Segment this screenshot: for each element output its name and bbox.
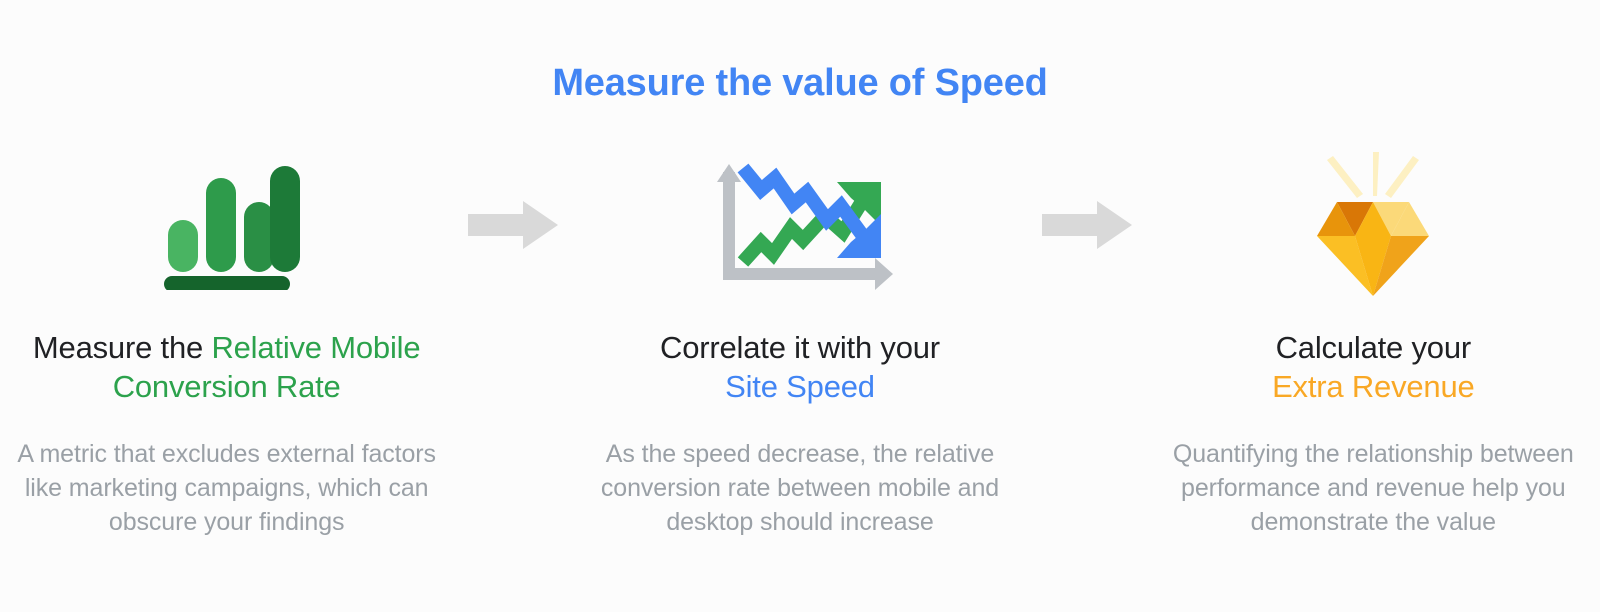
- headline-plain-part: Measure the: [33, 330, 212, 365]
- step-headline: Measure the Relative Mobile Conversion R…: [0, 328, 453, 406]
- step-body-text: A metric that excludes external factors …: [0, 438, 453, 539]
- headline-accent-part: Site Speed: [725, 369, 875, 404]
- arrow-right-icon: [1027, 150, 1147, 300]
- slide-canvas: Measure the value of Speed Measure the R…: [0, 0, 1600, 612]
- step-headline: Calculate yourExtra Revenue: [1272, 328, 1474, 406]
- step-headline: Correlate it with yourSite Speed: [660, 328, 940, 406]
- headline-plain-part: Calculate your: [1276, 330, 1471, 365]
- step-card-calculate: Calculate yourExtra Revenue Quantifying …: [1147, 150, 1600, 539]
- page-title: Measure the value of Speed: [0, 62, 1600, 105]
- diamond-gem-icon: [1293, 150, 1453, 300]
- headline-accent-part: Extra Revenue: [1272, 369, 1474, 404]
- arrow-right-icon: [453, 150, 573, 300]
- diverging-trend-chart-icon: [695, 150, 905, 300]
- step-card-measure: Measure the Relative Mobile Conversion R…: [0, 150, 453, 539]
- step-body-text: As the speed decrease, the relative conv…: [573, 438, 1026, 539]
- bar-chart-icon: [152, 150, 302, 300]
- step-body-text: Quantifying the relationship between per…: [1147, 438, 1600, 539]
- step-card-correlate: Correlate it with yourSite Speed As the …: [573, 150, 1026, 539]
- headline-plain-part: Correlate it with your: [660, 330, 940, 365]
- steps-row: Measure the Relative Mobile Conversion R…: [0, 150, 1600, 539]
